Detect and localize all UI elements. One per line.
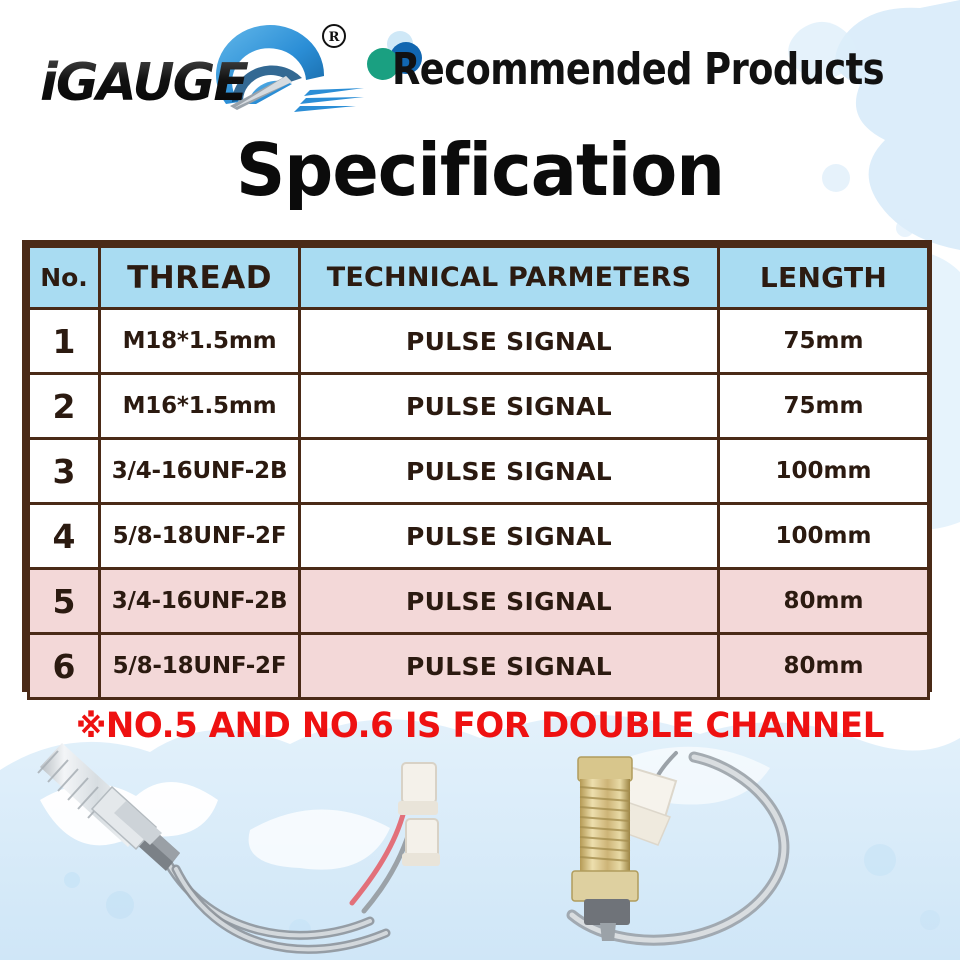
table-row-highlighted: 5 3/4-16UNF-2B PULSE SIGNAL 80mm — [29, 569, 929, 634]
cell-no: 2 — [29, 374, 100, 439]
double-channel-note: ※NO.5 AND NO.6 IS FOR DOUBLE CHANNEL — [14, 706, 945, 746]
cell-technical: PULSE SIGNAL — [300, 439, 719, 504]
svg-text:R: R — [329, 30, 340, 45]
cell-thread: M16*1.5mm — [100, 374, 300, 439]
cell-technical: PULSE SIGNAL — [300, 374, 719, 439]
chrome-threaded-sensor-photo — [38, 743, 440, 949]
page-title: Specification — [24, 128, 936, 212]
cell-technical: PULSE SIGNAL — [300, 309, 719, 374]
cell-no: 3 — [29, 439, 100, 504]
column-header-no: No. — [29, 247, 100, 309]
cell-no: 4 — [29, 504, 100, 569]
reference-mark-icon: ※ — [76, 707, 106, 745]
cell-length: 75mm — [719, 309, 929, 374]
page-header: R iGAUGE Recommended Products — [0, 0, 960, 122]
cell-length: 100mm — [719, 439, 929, 504]
column-header-thread: THREAD — [100, 247, 300, 309]
threaded-barrel — [572, 757, 638, 941]
table-row: 4 5/8-18UNF-2F PULSE SIGNAL 100mm — [29, 504, 929, 569]
cell-thread: M18*1.5mm — [100, 309, 300, 374]
cell-length: 75mm — [719, 374, 929, 439]
cell-no: 1 — [29, 309, 100, 374]
table-body: 1 M18*1.5mm PULSE SIGNAL 75mm 2 M16*1.5m… — [29, 309, 929, 699]
cell-technical: PULSE SIGNAL — [300, 504, 719, 569]
specification-table: No. THREAD TECHNICAL PARMETERS LENGTH 1 … — [22, 240, 932, 692]
igauge-wordmark: iGAUGE — [40, 53, 248, 113]
table-row: 1 M18*1.5mm PULSE SIGNAL 75mm — [29, 309, 929, 374]
column-header-technical-parameters: TECHNICAL PARMETERS — [300, 247, 719, 309]
cell-thread: 5/8-18UNF-2F — [100, 504, 300, 569]
cell-thread: 3/4-16UNF-2B — [100, 569, 300, 634]
cell-technical: PULSE SIGNAL — [300, 634, 719, 699]
igauge-logo: R iGAUGE — [34, 22, 364, 112]
cell-thread: 3/4-16UNF-2B — [100, 439, 300, 504]
cell-technical: PULSE SIGNAL — [300, 569, 719, 634]
cell-no: 5 — [29, 569, 100, 634]
double-channel-note-text: NO.5 AND NO.6 IS FOR DOUBLE CHANNEL — [106, 706, 884, 746]
cell-no: 6 — [29, 634, 100, 699]
cell-thread: 5/8-18UNF-2F — [100, 634, 300, 699]
recommended-products-title: Recommended Products — [392, 44, 884, 95]
cell-length: 80mm — [719, 569, 929, 634]
registered-icon: R — [323, 25, 345, 47]
cell-length: 100mm — [719, 504, 929, 569]
product-photos — [0, 735, 960, 960]
brass-threaded-sensor-photo — [572, 753, 784, 941]
threaded-barrel — [38, 743, 162, 849]
table-header-row: No. THREAD TECHNICAL PARMETERS LENGTH — [29, 247, 929, 309]
column-header-length: LENGTH — [719, 247, 929, 309]
table-row: 2 M16*1.5mm PULSE SIGNAL 75mm — [29, 374, 929, 439]
cell-length: 80mm — [719, 634, 929, 699]
table-row-highlighted: 6 5/8-18UNF-2F PULSE SIGNAL 80mm — [29, 634, 929, 699]
table-row: 3 3/4-16UNF-2B PULSE SIGNAL 100mm — [29, 439, 929, 504]
